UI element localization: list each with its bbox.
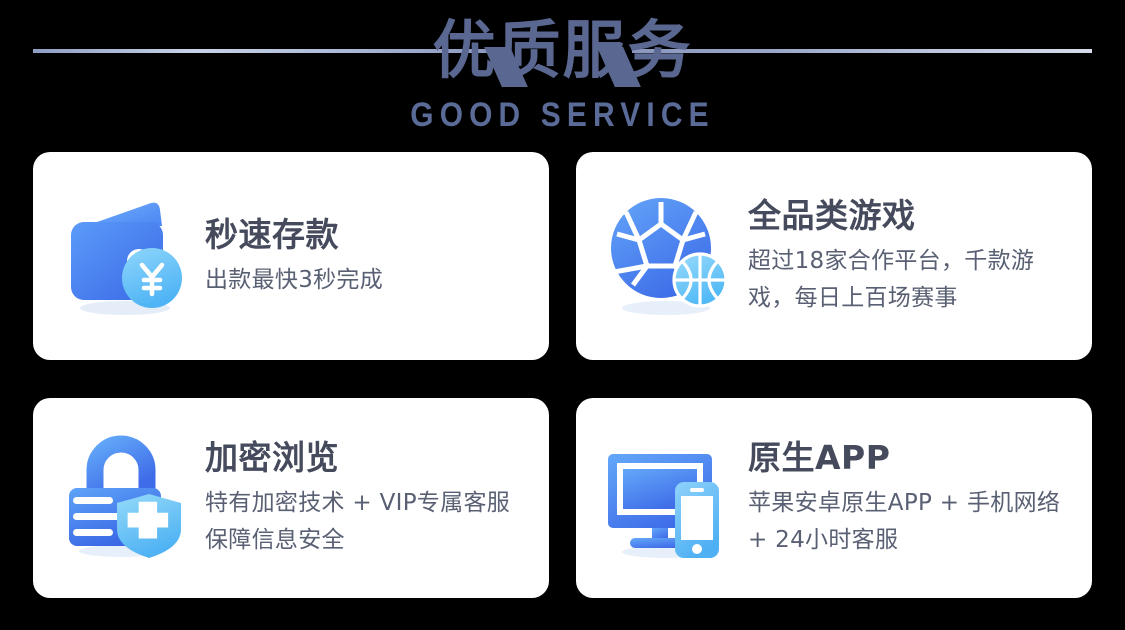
- feature-card-grid: 秒速存款 出款最快3秒完成: [33, 152, 1092, 598]
- page-subtitle: GOOD SERVICE: [68, 96, 1058, 134]
- page-header: 优质服务 GOOD SERVICE: [0, 0, 1125, 145]
- feature-card-desc: 苹果安卓原生APP + 手机网络 + 24小时客服: [748, 485, 1074, 559]
- feature-card-deposit[interactable]: 秒速存款 出款最快3秒完成: [33, 152, 549, 360]
- feature-card-title: 原生APP: [748, 437, 1074, 479]
- feature-card-text: 秒速存款 出款最快3秒完成: [191, 214, 531, 299]
- feature-card-title: 加密浏览: [205, 437, 531, 479]
- feature-card-desc: 特有加密技术 + VIP专属客服保障信息安全: [205, 485, 531, 559]
- feature-card-encryption[interactable]: 加密浏览 特有加密技术 + VIP专属客服保障信息安全: [33, 398, 549, 598]
- feature-card-desc: 超过18家合作平台，千款游戏，每日上百场赛事: [748, 243, 1074, 317]
- feature-card-text: 全品类游戏 超过18家合作平台，千款游戏，每日上百场赛事: [734, 195, 1074, 317]
- wallet-yen-icon: [59, 190, 191, 322]
- feature-card-native-app[interactable]: 原生APP 苹果安卓原生APP + 手机网络 + 24小时客服: [576, 398, 1092, 598]
- soccer-basketball-icon: [602, 190, 734, 322]
- page-title: 优质服务: [0, 8, 1125, 93]
- feature-card-text: 加密浏览 特有加密技术 + VIP专属客服保障信息安全: [191, 437, 531, 559]
- lock-shield-icon: [59, 432, 191, 564]
- feature-card-desc: 出款最快3秒完成: [205, 262, 531, 299]
- monitor-phone-icon: [602, 432, 734, 564]
- feature-card-text: 原生APP 苹果安卓原生APP + 手机网络 + 24小时客服: [734, 437, 1074, 559]
- feature-card-title: 秒速存款: [205, 214, 531, 256]
- feature-card-games[interactable]: 全品类游戏 超过18家合作平台，千款游戏，每日上百场赛事: [576, 152, 1092, 360]
- feature-card-title: 全品类游戏: [748, 195, 1074, 237]
